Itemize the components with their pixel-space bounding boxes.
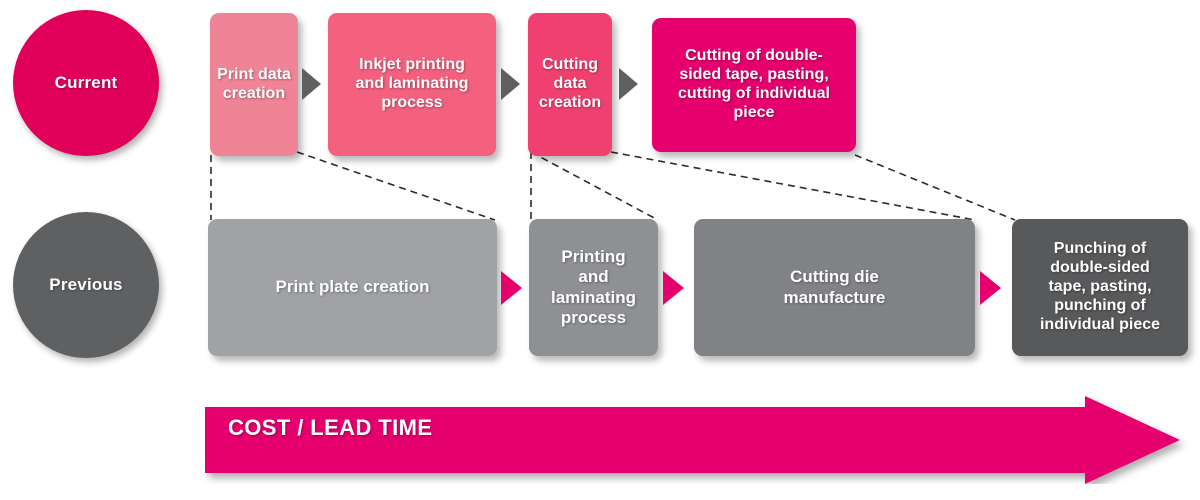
- connector-line-5: [611, 152, 975, 220]
- step-box-previous-2[interactable]: Printing and laminating process: [529, 219, 658, 356]
- row-label-previous-text: Previous: [49, 275, 122, 295]
- connector-line-4: [531, 152, 658, 220]
- diagram-canvas: Current Print data creation Inkjet print…: [0, 0, 1200, 500]
- connector-line-2: [297, 152, 495, 220]
- row-label-current: Current: [13, 10, 159, 156]
- step-box-current-3-label: Cutting data creation: [539, 56, 601, 113]
- step-box-current-4[interactable]: Cutting of double- sided tape, pasting, …: [652, 18, 856, 152]
- arrow-current-2: [501, 68, 520, 100]
- connector-line-6: [855, 155, 1015, 220]
- step-box-previous-4-label: Punching of double-sided tape, pasting, …: [1040, 240, 1160, 334]
- step-box-current-3[interactable]: Cutting data creation: [528, 13, 612, 156]
- arrow-previous-1: [501, 271, 522, 305]
- step-box-current-2-label: Inkjet printing and laminating process: [356, 56, 469, 113]
- step-box-current-1-label: Print data creation: [217, 66, 291, 104]
- row-label-previous: Previous: [13, 212, 159, 358]
- step-box-previous-4[interactable]: Punching of double-sided tape, pasting, …: [1012, 219, 1188, 356]
- step-box-current-1[interactable]: Print data creation: [210, 13, 298, 156]
- row-label-current-text: Current: [55, 73, 118, 93]
- step-box-previous-3[interactable]: Cutting die manufacture: [694, 219, 975, 356]
- step-box-previous-1-label: Print plate creation: [276, 277, 430, 297]
- cost-lead-time-label: COST / LEAD TIME: [228, 415, 432, 441]
- arrow-current-3: [619, 68, 638, 100]
- step-box-current-4-label: Cutting of double- sided tape, pasting, …: [678, 47, 830, 123]
- arrow-current-1: [302, 68, 321, 100]
- step-box-current-2[interactable]: Inkjet printing and laminating process: [328, 13, 496, 156]
- step-box-previous-2-label: Printing and laminating process: [551, 247, 636, 327]
- step-box-previous-3-label: Cutting die manufacture: [783, 267, 885, 307]
- arrow-previous-2: [663, 271, 684, 305]
- step-box-previous-1[interactable]: Print plate creation: [208, 219, 497, 356]
- arrow-previous-3: [980, 271, 1001, 305]
